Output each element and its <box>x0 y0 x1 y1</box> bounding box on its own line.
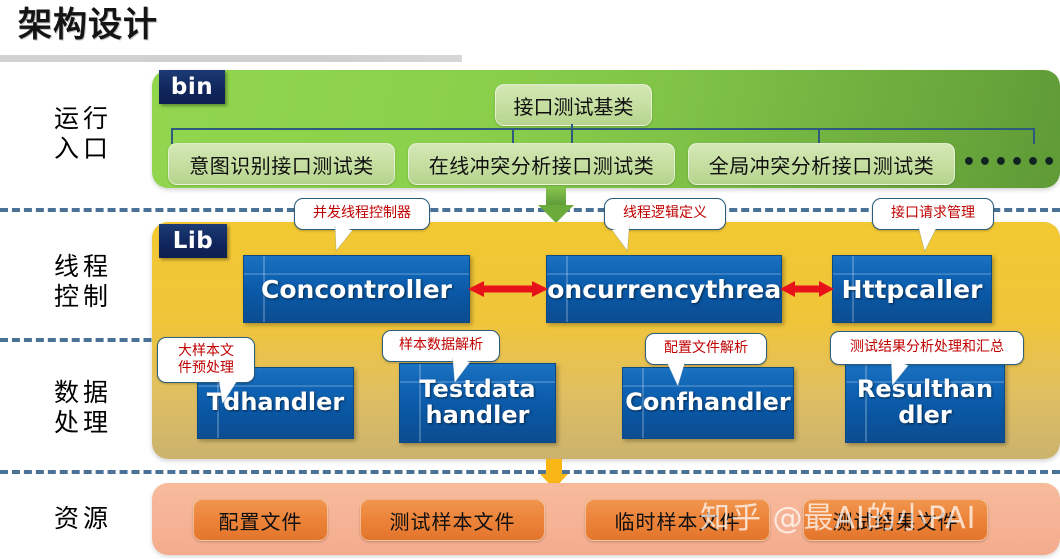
module-testdatahandler[interactable]: Testdata handler <box>399 363 556 443</box>
bin-entry-1-label: 在线冲突分析接口测试类 <box>429 150 655 179</box>
module-concurrencythread-label: Concurrencythread <box>546 276 782 303</box>
resource-item-3[interactable]: 测试结果文件 <box>803 499 988 541</box>
connector-horizontal-bus <box>171 128 1035 130</box>
callout-tdhandler: 大样本文 件预处理 <box>157 337 255 383</box>
row-label-runtime-entry: 运行 入口 <box>28 104 138 164</box>
page-title: 架构设计 <box>18 2 158 48</box>
callout-resulthandler-label: 测试结果分析处理和汇总 <box>850 339 1004 357</box>
callout-concontroller-label: 并发线程控制器 <box>313 205 411 223</box>
bin-entry-1[interactable]: 在线冲突分析接口测试类 <box>408 143 675 185</box>
bidirectional-arrow-left <box>468 281 548 297</box>
resource-item-0-label: 配置文件 <box>219 506 303 535</box>
row-label-resource: 资源 <box>28 504 138 534</box>
module-confhandler-label: Confhandler <box>622 390 794 416</box>
module-httpcaller-label: Httpcaller <box>836 276 989 303</box>
resource-item-3-label: 测试结果文件 <box>833 506 959 535</box>
resource-item-1-label: 测试样本文件 <box>390 506 516 535</box>
bin-base-class-label: 接口测试基类 <box>514 91 634 120</box>
row-label-thread-control: 线程 控制 <box>28 252 138 312</box>
flow-arrow-bin-to-lib-shaft <box>546 188 566 206</box>
bin-base-class-box[interactable]: 接口测试基类 <box>495 84 652 126</box>
module-httpcaller[interactable]: Httpcaller <box>832 255 992 323</box>
connector-drop-1 <box>171 128 173 144</box>
callout-confhandler-label: 配置文件解析 <box>664 340 748 358</box>
divider-data-resource <box>0 470 1060 474</box>
connector-drop-2 <box>512 128 514 144</box>
module-resulthandler[interactable]: Resulthan dler <box>845 363 1005 443</box>
module-concontroller-label: Concontroller <box>255 276 458 303</box>
bin-entries-ellipsis: •••••• <box>975 142 1045 182</box>
callout-concontroller: 并发线程控制器 <box>294 198 430 230</box>
resource-item-0[interactable]: 配置文件 <box>193 499 328 541</box>
resource-item-2-label: 临时样本文件 <box>615 506 741 535</box>
module-concurrencythread[interactable]: Concurrencythread <box>546 255 782 323</box>
flow-arrow-lib-to-resource-shaft <box>546 459 562 475</box>
callout-tail <box>916 226 936 252</box>
module-testdatahandler-label: Testdata handler <box>413 377 541 429</box>
callout-testdatahandler: 样本数据解析 <box>382 330 500 362</box>
flow-arrow-bin-to-lib-head <box>538 205 574 223</box>
callout-concurrencythread-label: 线程逻辑定义 <box>623 205 707 223</box>
title-underline-bar <box>0 55 462 62</box>
bin-entry-0[interactable]: 意图识别接口测试类 <box>168 143 395 185</box>
callout-confhandler: 配置文件解析 <box>645 333 767 365</box>
resource-item-2[interactable]: 临时样本文件 <box>585 499 770 541</box>
callout-tail <box>667 361 687 386</box>
connector-drop-3 <box>818 128 820 144</box>
bidirectional-arrow-right <box>780 281 834 297</box>
callout-httpcaller: 接口请求管理 <box>872 198 994 230</box>
callout-tdhandler-label: 大样本文 件预处理 <box>178 343 234 378</box>
module-concontroller[interactable]: Concontroller <box>243 255 470 323</box>
architecture-diagram: 架构设计 运行 入口 线程 控制 数据 处理 资源 bin 接口测试基类 意图识… <box>0 0 1060 559</box>
connector-drop-base <box>571 124 573 144</box>
lib-section-tag: Lib <box>159 224 227 258</box>
module-resulthandler-label: Resulthan dler <box>851 377 999 429</box>
bin-entry-2[interactable]: 全局冲突分析接口测试类 <box>688 143 955 185</box>
module-confhandler[interactable]: Confhandler <box>622 367 794 439</box>
callout-httpcaller-label: 接口请求管理 <box>891 205 975 223</box>
bin-section-tag: bin <box>159 70 225 104</box>
callout-concurrencythread: 线程逻辑定义 <box>604 198 726 230</box>
resource-item-1[interactable]: 测试样本文件 <box>360 499 545 541</box>
callout-testdatahandler-label: 样本数据解析 <box>399 337 483 355</box>
bin-entry-2-label: 全局冲突分析接口测试类 <box>709 150 935 179</box>
callout-resulthandler: 测试结果分析处理和汇总 <box>830 331 1024 365</box>
bin-entry-0-label: 意图识别接口测试类 <box>189 150 374 179</box>
row-label-data-processing: 数据 处理 <box>28 378 138 438</box>
